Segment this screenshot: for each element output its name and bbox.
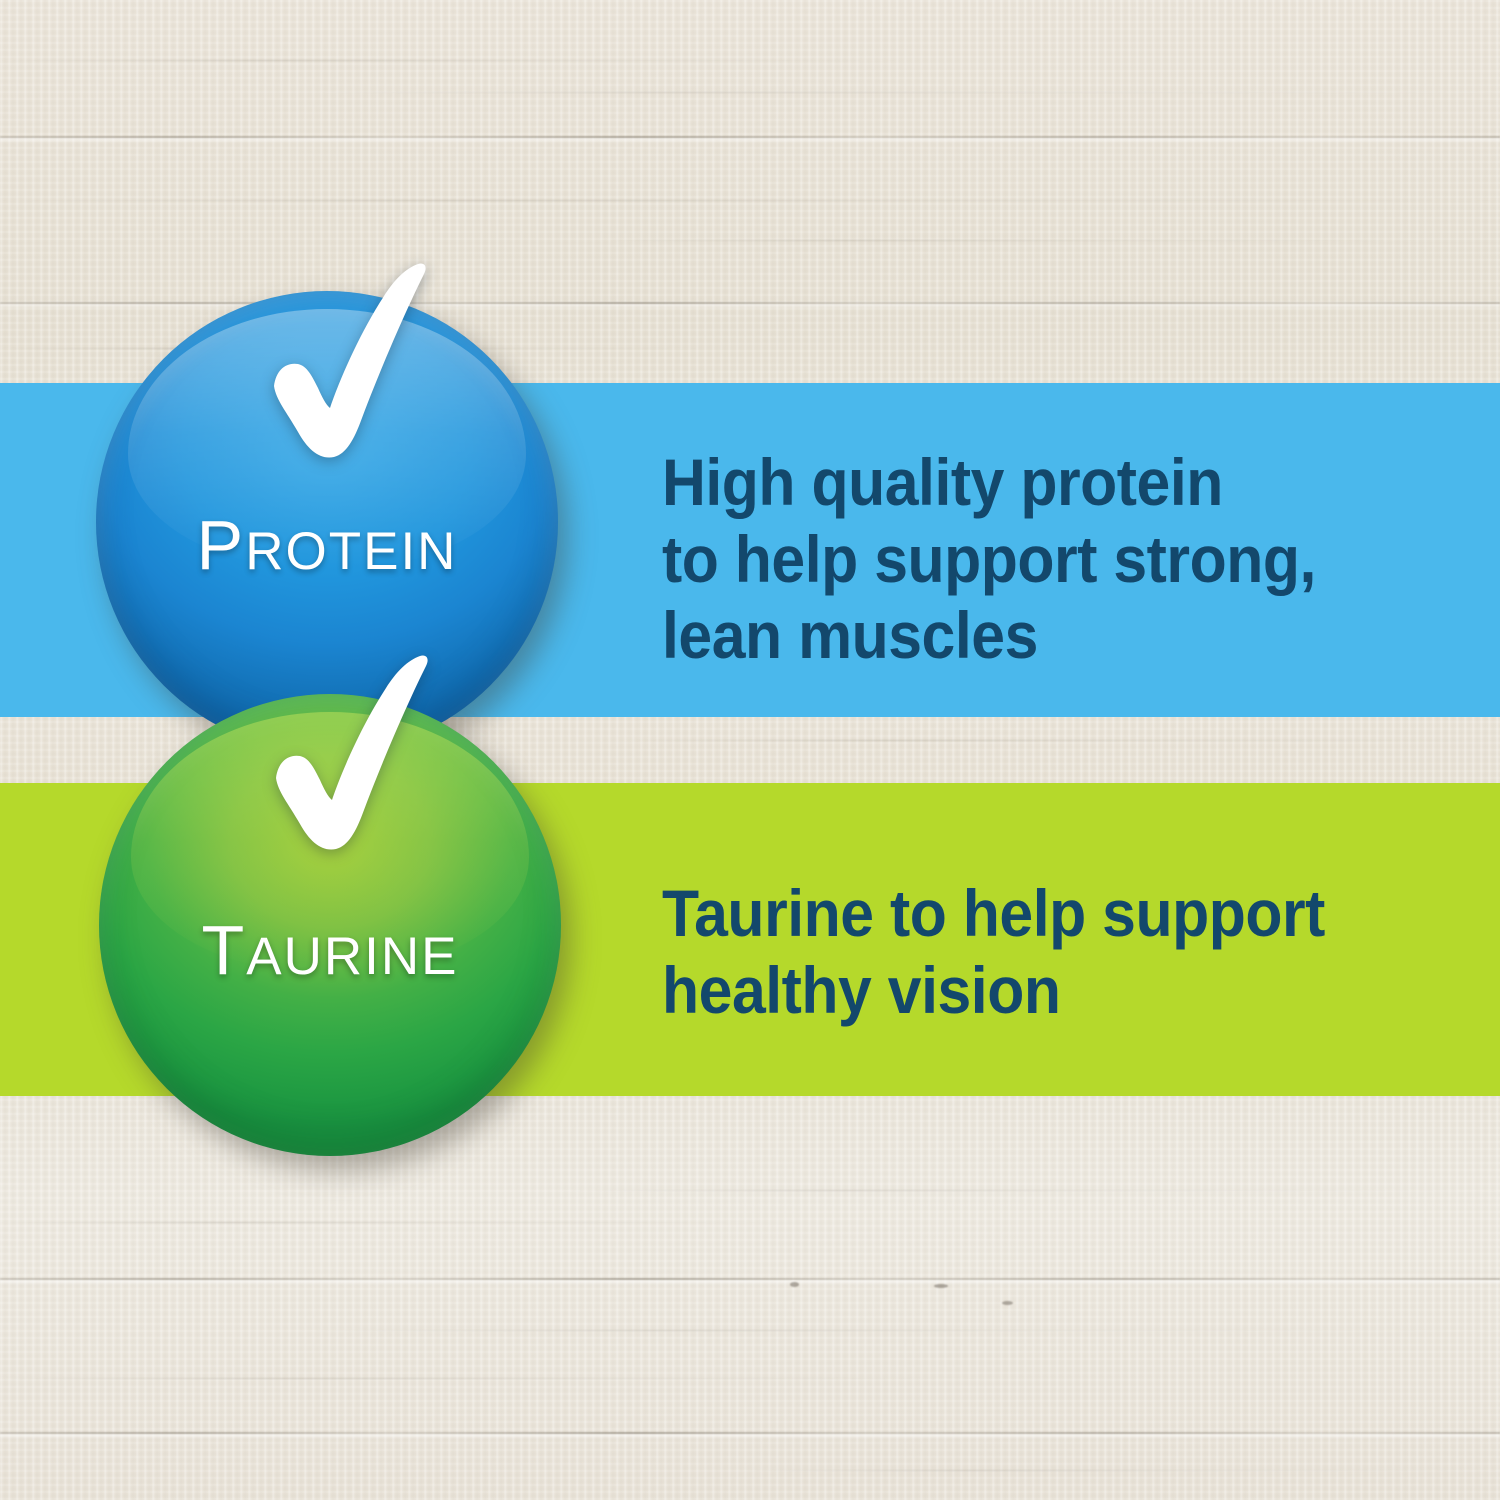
wood-grain [0, 200, 1500, 201]
checkmark-icon [236, 258, 456, 468]
feature-copy-taurine: Taurine to help support healthy vision [662, 875, 1325, 1028]
badge-label-taurine-rest: AURINE [246, 927, 458, 986]
plank-seam [0, 1278, 1500, 1280]
wood-grain [560, 1190, 1500, 1191]
wood-grain [0, 1222, 760, 1223]
plank-seam [0, 136, 1500, 138]
wood-grain [0, 60, 900, 61]
plank-seam [0, 1432, 1500, 1434]
wood-grain [740, 1470, 1500, 1471]
wood-knot [1002, 1301, 1013, 1305]
wood-grain [0, 1378, 980, 1379]
badge-label-taurine-initial: T [201, 911, 246, 989]
badge-label-taurine: TAURINE [99, 910, 561, 990]
wood-grain [620, 740, 1500, 741]
feature-copy-protein: High quality protein to help support str… [662, 444, 1316, 674]
wood-grain [300, 1330, 1500, 1331]
plank-seam [0, 302, 1500, 304]
wood-knot [934, 1284, 948, 1288]
badge-label-protein-initial: P [197, 506, 246, 584]
wood-knot [790, 1282, 799, 1287]
badge-label-protein-rest: ROTEIN [245, 522, 457, 581]
wood-grain [320, 92, 1500, 93]
infographic-canvas: High quality protein to help support str… [0, 0, 1500, 1500]
wood-grain [600, 240, 1420, 241]
badge-label-protein: PROTEIN [96, 505, 558, 585]
checkmark-icon [238, 650, 458, 860]
